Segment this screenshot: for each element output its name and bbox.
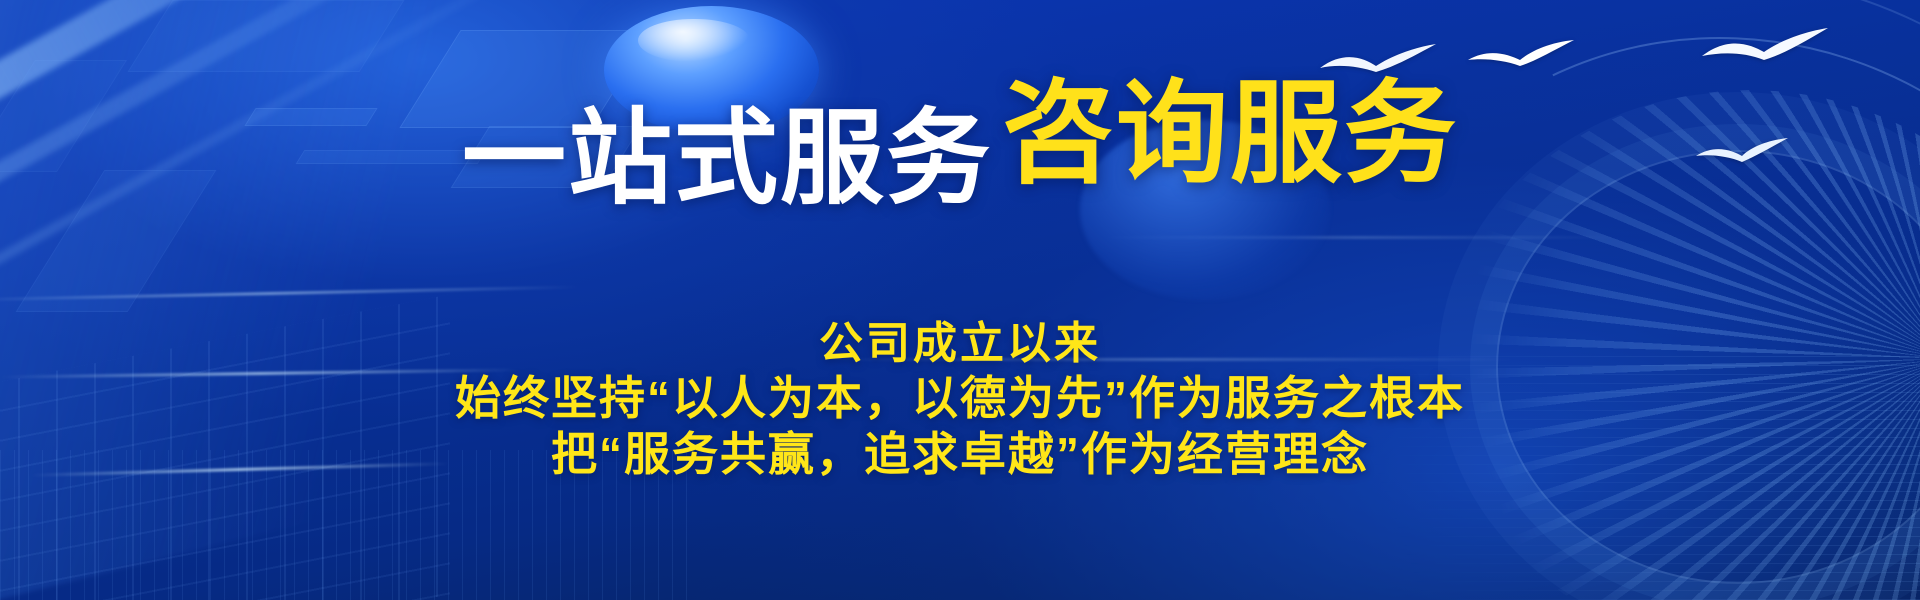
body-line-1: 公司成立以来 (0, 318, 1920, 370)
light-streak-5 (1100, 236, 1620, 239)
promo-banner: 一站式服务咨询服务 公司成立以来 始终坚持“以人为本，以德为先”作为服务之根本 … (0, 0, 1920, 600)
seagull-2 (1466, 38, 1576, 76)
headline-white-text: 一站式服务 (462, 101, 992, 217)
headline: 一站式服务咨询服务 (0, 78, 1920, 211)
headline-yellow-text: 咨询服务 (1002, 71, 1458, 196)
light-streak-1 (0, 286, 580, 302)
body-copy: 公司成立以来 始终坚持“以人为本，以德为先”作为服务之根本 把“服务共赢，追求卓… (0, 318, 1920, 482)
geo-shape-7 (128, 0, 405, 72)
seagull-3 (1700, 26, 1830, 70)
body-line-2: 始终坚持“以人为本，以德为先”作为服务之根本 (0, 370, 1920, 426)
body-line-3: 把“服务共赢，追求卓越”作为经营理念 (0, 426, 1920, 482)
